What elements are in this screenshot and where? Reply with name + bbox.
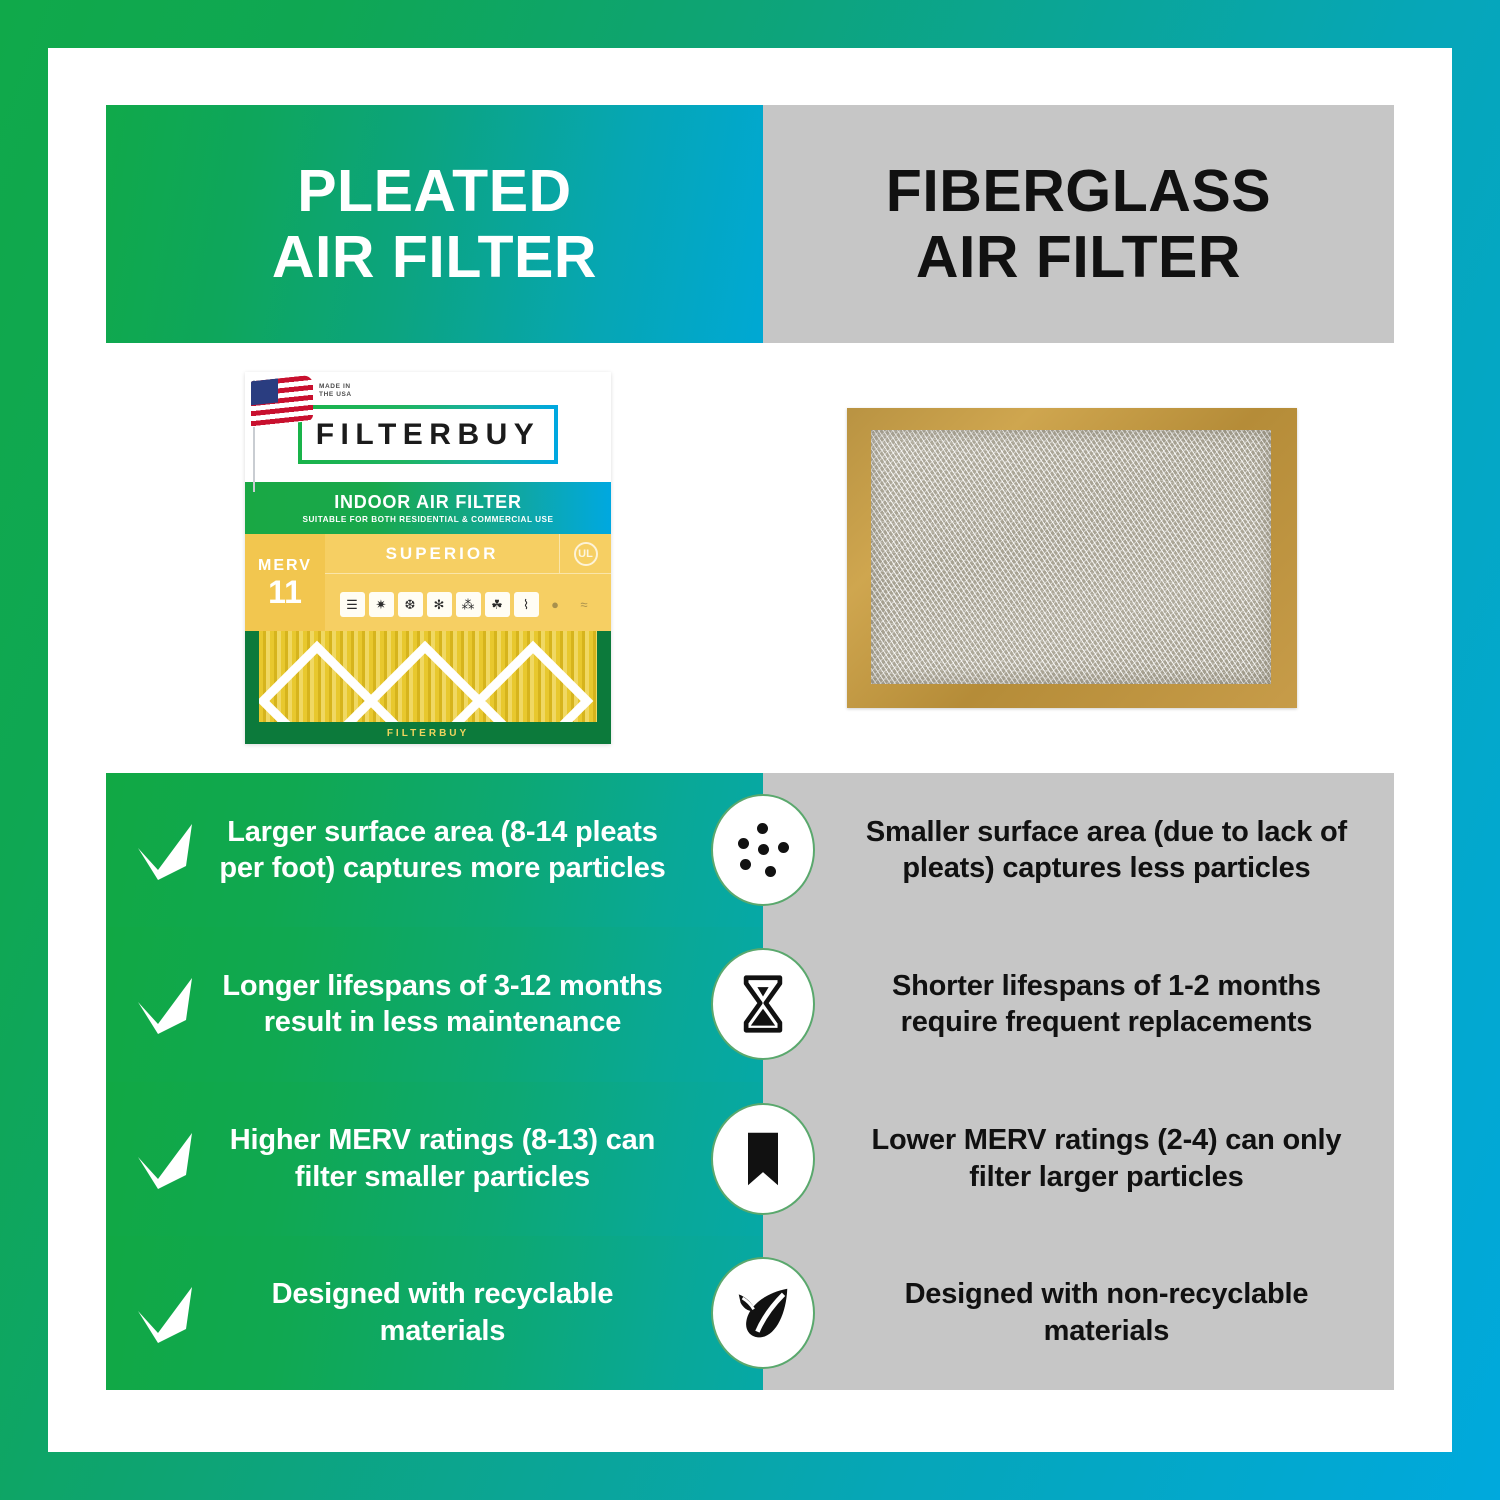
pleated-filter-package: MADE IN THE USA FILTERBUY ® INDOOR AIR F… — [245, 372, 611, 744]
comparison-row: Larger surface area (8-14 pleats per foo… — [106, 773, 1394, 927]
smoke-icon: ⌇ — [514, 592, 539, 617]
checkmark-icon — [132, 818, 198, 882]
merv-block: MERV 11 — [245, 534, 325, 631]
ul-certification-icon: UL — [574, 542, 598, 566]
fiberglass-drawback-cell: Shorter lifespans of 1-2 months require … — [763, 927, 1394, 1081]
package-brand-header: MADE IN THE USA FILTERBUY ® — [245, 372, 611, 482]
comparison-row: Longer lifespans of 3-12 months result i… — [106, 927, 1394, 1081]
checkmark-icon — [132, 972, 198, 1036]
header-pleated-title: PLEATED AIR FILTER — [272, 158, 597, 290]
comparison-row: Designed with recyclable materials Desig… — [106, 1236, 1394, 1390]
usa-flag-icon — [251, 375, 313, 428]
checkmark-icon — [132, 1127, 198, 1191]
grade-row: SUPERIOR UL — [325, 534, 611, 574]
infographic-frame: PLEATED AIR FILTER FIBERGLASS AIR FILTER… — [0, 0, 1500, 1500]
pleated-product-cell: MADE IN THE USA FILTERBUY ® INDOOR AIR F… — [106, 343, 750, 773]
pleated-benefit-cell: Larger surface area (8-14 pleats per foo… — [106, 773, 763, 927]
pleated-media-area: FILTERBUY — [245, 631, 611, 744]
package-spec-band: MERV 11 SUPERIOR UL — [245, 534, 611, 631]
fiberglass-drawback-cell: Smaller surface area (due to lack of ple… — [763, 773, 1394, 927]
header-pleated-panel: PLEATED AIR FILTER — [106, 105, 763, 343]
odor-icon: ≈ — [572, 592, 597, 617]
package-band-title: INDOOR AIR FILTER — [334, 492, 522, 513]
product-images-row: MADE IN THE USA FILTERBUY ® INDOOR AIR F… — [106, 343, 1394, 773]
pet-dander-icon: ☘ — [485, 592, 510, 617]
pleated-benefit-cell: Longer lifespans of 3-12 months result i… — [106, 927, 763, 1081]
merv-label: MERV — [258, 557, 312, 575]
package-band: INDOOR AIR FILTER SUITABLE FOR BOTH RESI… — [245, 482, 611, 534]
package-feature-icon-row: ☰ ✷ ❆ ✻ ⁂ ☘ ⌇ ● ≈ — [325, 574, 611, 631]
grade-label: SUPERIOR — [325, 544, 559, 564]
header-fiberglass-panel: FIBERGLASS AIR FILTER — [763, 105, 1394, 343]
particle-dot — [758, 844, 769, 855]
fiberglass-drawback-text: Lower MERV ratings (2-4) can only filter… — [847, 1122, 1366, 1195]
mold-spore-icon: ✻ — [427, 592, 452, 617]
particles-icon — [711, 794, 815, 906]
fiberglass-mesh — [871, 430, 1271, 684]
bacteria-icon: ⁂ — [456, 592, 481, 617]
particle-dot — [740, 859, 751, 870]
pleated-benefit-text: Designed with recyclable materials — [206, 1276, 679, 1349]
pleated-benefit-text: Larger surface area (8-14 pleats per foo… — [206, 814, 679, 887]
leaf-icon — [711, 1257, 815, 1369]
fiberglass-filter-photo — [847, 408, 1297, 708]
particle-dot — [765, 866, 776, 877]
fiberglass-drawback-cell: Designed with non-recyclable materials — [763, 1236, 1394, 1390]
comparison-board: PLEATED AIR FILTER FIBERGLASS AIR FILTER… — [106, 105, 1394, 1390]
pleated-benefit-text: Higher MERV ratings (8-13) can filter sm… — [206, 1122, 679, 1195]
pleated-benefit-cell: Designed with recyclable materials — [106, 1236, 763, 1390]
pleated-benefit-cell: Higher MERV ratings (8-13) can filter sm… — [106, 1082, 763, 1236]
brand-logo-box: FILTERBUY ® — [298, 405, 559, 464]
package-band-subtitle: SUITABLE FOR BOTH RESIDENTIAL & COMMERCI… — [303, 515, 554, 524]
made-in-usa-label: MADE IN THE USA — [319, 383, 352, 399]
header-banner: PLEATED AIR FILTER FIBERGLASS AIR FILTER — [106, 105, 1394, 343]
particle-dot — [757, 823, 768, 834]
fiberglass-drawback-cell: Lower MERV ratings (2-4) can only filter… — [763, 1082, 1394, 1236]
pleated-benefit-text: Longer lifespans of 3-12 months result i… — [206, 968, 679, 1041]
certification-cell: UL — [559, 534, 611, 573]
comparison-rows: Larger surface area (8-14 pleats per foo… — [106, 773, 1394, 1390]
fiberglass-product-cell — [750, 343, 1394, 773]
comparison-row: Higher MERV ratings (8-13) can filter sm… — [106, 1082, 1394, 1236]
package-footer-brand: FILTERBUY — [259, 722, 597, 744]
virus-icon: ● — [543, 592, 568, 617]
header-fiberglass-title: FIBERGLASS AIR FILTER — [886, 158, 1271, 290]
fiberglass-drawback-text: Shorter lifespans of 1-2 months require … — [847, 968, 1366, 1041]
checkmark-icon — [132, 1281, 198, 1345]
particle-dots — [734, 821, 792, 879]
brand-logo-text: FILTERBUY — [316, 418, 541, 452]
pollen-icon: ❆ — [398, 592, 423, 617]
hourglass-icon — [711, 948, 815, 1060]
merv-value: 11 — [268, 576, 302, 608]
dust-icon: ☰ — [340, 592, 365, 617]
fiberglass-drawback-text: Designed with non-recyclable materials — [847, 1276, 1366, 1349]
dust-mite-icon: ✷ — [369, 592, 394, 617]
infographic-canvas: PLEATED AIR FILTER FIBERGLASS AIR FILTER… — [48, 48, 1452, 1452]
package-spec-right: SUPERIOR UL ☰ ✷ ❆ ✻ — [325, 534, 611, 631]
fiberglass-drawback-text: Smaller surface area (due to lack of ple… — [847, 814, 1366, 887]
particle-dot — [778, 842, 789, 853]
particle-dot — [738, 838, 749, 849]
bookmark-icon — [711, 1103, 815, 1215]
